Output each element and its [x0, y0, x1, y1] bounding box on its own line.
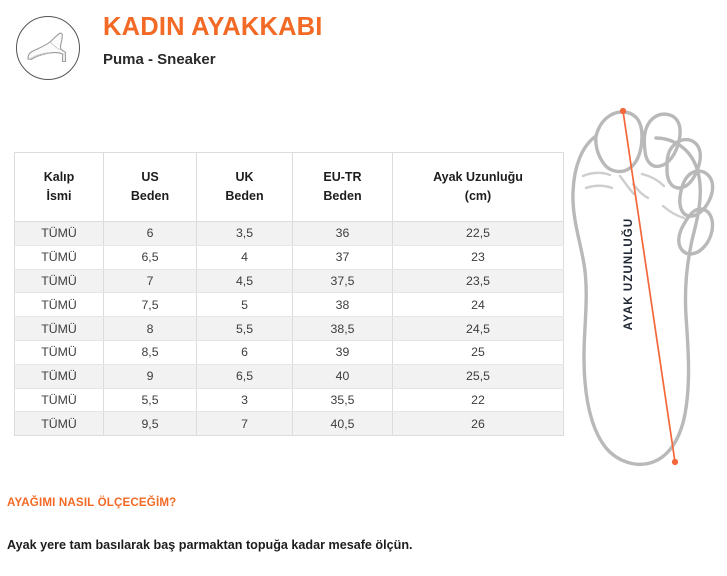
measure-line-end-dot [672, 459, 678, 465]
table-header-row: Kalıp İsmi US Beden UK Beden EU-TR Beden… [15, 153, 564, 222]
table-row: TÜMÜ7,553824 [15, 293, 564, 317]
cell-eu-tr-beden: 37,5 [293, 269, 393, 293]
table-row: TÜMÜ8,563925 [15, 340, 564, 364]
column-header-kalip-ismi: Kalıp İsmi [15, 153, 104, 222]
cell-eu-tr-beden: 40,5 [293, 412, 393, 436]
cell-us-beden: 7,5 [104, 293, 197, 317]
page-title: KADIN AYAKKABI [103, 14, 543, 41]
cell-uk-beden: 4,5 [197, 269, 293, 293]
cell-us-beden: 5,5 [104, 388, 197, 412]
page-header: KADIN AYAKKABI Puma - Sneaker [0, 0, 560, 100]
cell-kalip-ismi: TÜMÜ [15, 388, 104, 412]
table-body: TÜMÜ63,53622,5TÜMÜ6,543723TÜMÜ74,537,523… [15, 222, 564, 436]
cell-ayak-uzunlugu: 23 [393, 245, 564, 269]
foot-length-label: AYAK UZUNLUĞU [623, 199, 635, 349]
page-subtitle: Puma - Sneaker [103, 51, 543, 68]
cell-eu-tr-beden: 38,5 [293, 317, 393, 341]
cell-uk-beden: 6 [197, 340, 293, 364]
measure-line-start-dot [620, 108, 626, 114]
cell-eu-tr-beden: 35,5 [293, 388, 393, 412]
cell-eu-tr-beden: 38 [293, 293, 393, 317]
cell-uk-beden: 5 [197, 293, 293, 317]
table-row: TÜMÜ74,537,523,5 [15, 269, 564, 293]
high-heel-shoe-icon [16, 16, 80, 80]
cell-eu-tr-beden: 36 [293, 222, 393, 246]
cell-eu-tr-beden: 40 [293, 364, 393, 388]
column-header-line1: UK [197, 168, 292, 187]
measure-instructions-text: Ayak yere tam basılarak baş parmaktan to… [7, 538, 413, 552]
cell-uk-beden: 3 [197, 388, 293, 412]
cell-ayak-uzunlugu: 25,5 [393, 364, 564, 388]
cell-kalip-ismi: TÜMÜ [15, 364, 104, 388]
column-header-line2: Beden [197, 187, 292, 206]
cell-ayak-uzunlugu: 22,5 [393, 222, 564, 246]
foot-sole-diagram [560, 88, 727, 478]
cell-us-beden: 9 [104, 364, 197, 388]
column-header-eu-tr-beden: EU-TR Beden [293, 153, 393, 222]
cell-us-beden: 6 [104, 222, 197, 246]
column-header-ayak-uzunlugu: Ayak Uzunluğu (cm) [393, 153, 564, 222]
column-header-line2: İsmi [15, 187, 103, 206]
cell-uk-beden: 3,5 [197, 222, 293, 246]
cell-eu-tr-beden: 39 [293, 340, 393, 364]
column-header-line1: EU-TR [293, 168, 392, 187]
column-header-uk-beden: UK Beden [197, 153, 293, 222]
cell-us-beden: 9,5 [104, 412, 197, 436]
table-row: TÜMÜ5,5335,522 [15, 388, 564, 412]
cell-ayak-uzunlugu: 25 [393, 340, 564, 364]
title-block: KADIN AYAKKABI Puma - Sneaker [103, 14, 543, 68]
column-header-line2: Beden [104, 187, 196, 206]
cell-uk-beden: 5,5 [197, 317, 293, 341]
column-header-line2: (cm) [393, 187, 563, 206]
cell-kalip-ismi: TÜMÜ [15, 269, 104, 293]
table-row: TÜMÜ96,54025,5 [15, 364, 564, 388]
cell-kalip-ismi: TÜMÜ [15, 317, 104, 341]
table-row: TÜMÜ6,543723 [15, 245, 564, 269]
column-header-line1: US [104, 168, 196, 187]
cell-eu-tr-beden: 37 [293, 245, 393, 269]
cell-us-beden: 8,5 [104, 340, 197, 364]
column-header-line2: Beden [293, 187, 392, 206]
column-header-line1: Kalıp [15, 168, 103, 187]
cell-us-beden: 8 [104, 317, 197, 341]
cell-kalip-ismi: TÜMÜ [15, 222, 104, 246]
cell-ayak-uzunlugu: 26 [393, 412, 564, 436]
measure-instructions-heading: AYAĞIMI NASIL ÖLÇECEĞİM? [7, 496, 176, 509]
cell-kalip-ismi: TÜMÜ [15, 340, 104, 364]
cell-kalip-ismi: TÜMÜ [15, 245, 104, 269]
cell-us-beden: 6,5 [104, 245, 197, 269]
cell-ayak-uzunlugu: 24 [393, 293, 564, 317]
cell-ayak-uzunlugu: 22 [393, 388, 564, 412]
cell-uk-beden: 4 [197, 245, 293, 269]
cell-ayak-uzunlugu: 24,5 [393, 317, 564, 341]
table-header: Kalıp İsmi US Beden UK Beden EU-TR Beden… [15, 153, 564, 222]
cell-kalip-ismi: TÜMÜ [15, 293, 104, 317]
size-chart-table: Kalıp İsmi US Beden UK Beden EU-TR Beden… [14, 152, 564, 436]
table-row: TÜMÜ9,5740,526 [15, 412, 564, 436]
column-header-us-beden: US Beden [104, 153, 197, 222]
cell-kalip-ismi: TÜMÜ [15, 412, 104, 436]
table-row: TÜMÜ63,53622,5 [15, 222, 564, 246]
cell-uk-beden: 6,5 [197, 364, 293, 388]
cell-us-beden: 7 [104, 269, 197, 293]
table-row: TÜMÜ85,538,524,5 [15, 317, 564, 341]
cell-uk-beden: 7 [197, 412, 293, 436]
column-header-line1: Ayak Uzunluğu [393, 168, 563, 187]
cell-ayak-uzunlugu: 23,5 [393, 269, 564, 293]
